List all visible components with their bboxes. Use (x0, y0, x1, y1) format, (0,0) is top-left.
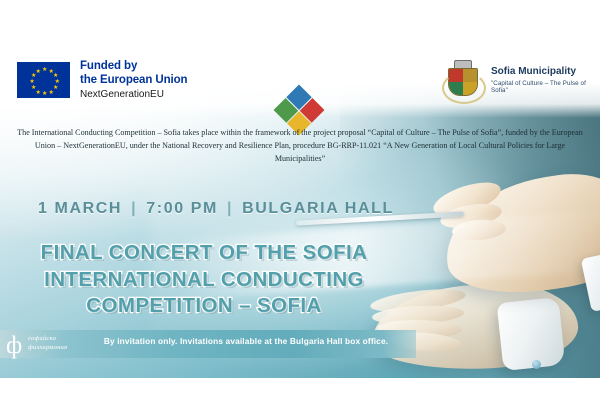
sofia-municipality-logo: Sofia Municipality "Capital of Culture –… (440, 58, 600, 102)
eu-line-3: NextGenerationEU (80, 89, 187, 101)
event-separator-1: | (128, 200, 140, 217)
background-bottom-white-band (0, 378, 600, 400)
eu-line-1: Funded by (80, 60, 187, 74)
cuff-button (532, 360, 541, 369)
sofia-philharmonic-monogram-icon: ф (6, 333, 22, 358)
title-line-3: COMPETITION – SOFIA (8, 293, 400, 320)
event-time: 7:00 PM (146, 200, 218, 217)
event-venue: BULGARIA HALL (242, 200, 394, 217)
invitation-notice: By invitation only. Invitations availabl… (96, 336, 396, 346)
sofia-municipality-text: Sofia Municipality "Capital of Culture –… (491, 66, 600, 95)
eu-flag-icon: ★ ★ ★ ★ ★ ★ ★ ★ ★ ★ ★ ★ (17, 62, 70, 98)
concert-poster: ★ ★ ★ ★ ★ ★ ★ ★ ★ ★ ★ ★ Funded by the Eu… (0, 0, 600, 400)
philharmonic-line-2: филхармония (28, 344, 67, 351)
crest-wreath (442, 72, 486, 104)
eu-line-2: the European Union (80, 74, 187, 88)
sofia-coat-of-arms-icon (440, 58, 484, 102)
philharmonic-line-1: софийска (28, 335, 56, 342)
page-title: FINAL CONCERT OF THE SOFIA INTERNATIONAL… (8, 240, 400, 320)
title-line-2: INTERNATIONAL CONDUCTING (8, 267, 400, 294)
eu-funding-logo: ★ ★ ★ ★ ★ ★ ★ ★ ★ ★ ★ ★ Funded by the Eu… (17, 60, 187, 101)
municipality-motto: "Capital of Culture – The Pulse of Sofia… (491, 80, 600, 95)
event-details-line: 1 MARCH | 7:00 PM | BULGARIA HALL (38, 200, 394, 218)
lower-shirt-cuff (497, 297, 566, 371)
municipality-name: Sofia Municipality (491, 66, 600, 78)
title-line-1: FINAL CONCERT OF THE SOFIA (8, 240, 400, 267)
project-description: The International Conducting Competition… (14, 126, 586, 165)
eu-funding-text: Funded by the European Union NextGenerat… (80, 60, 187, 101)
event-date: 1 MARCH (38, 200, 122, 217)
sofia-philharmonic-logo: ф софийска филхармония (4, 330, 80, 360)
event-separator-2: | (224, 200, 236, 217)
